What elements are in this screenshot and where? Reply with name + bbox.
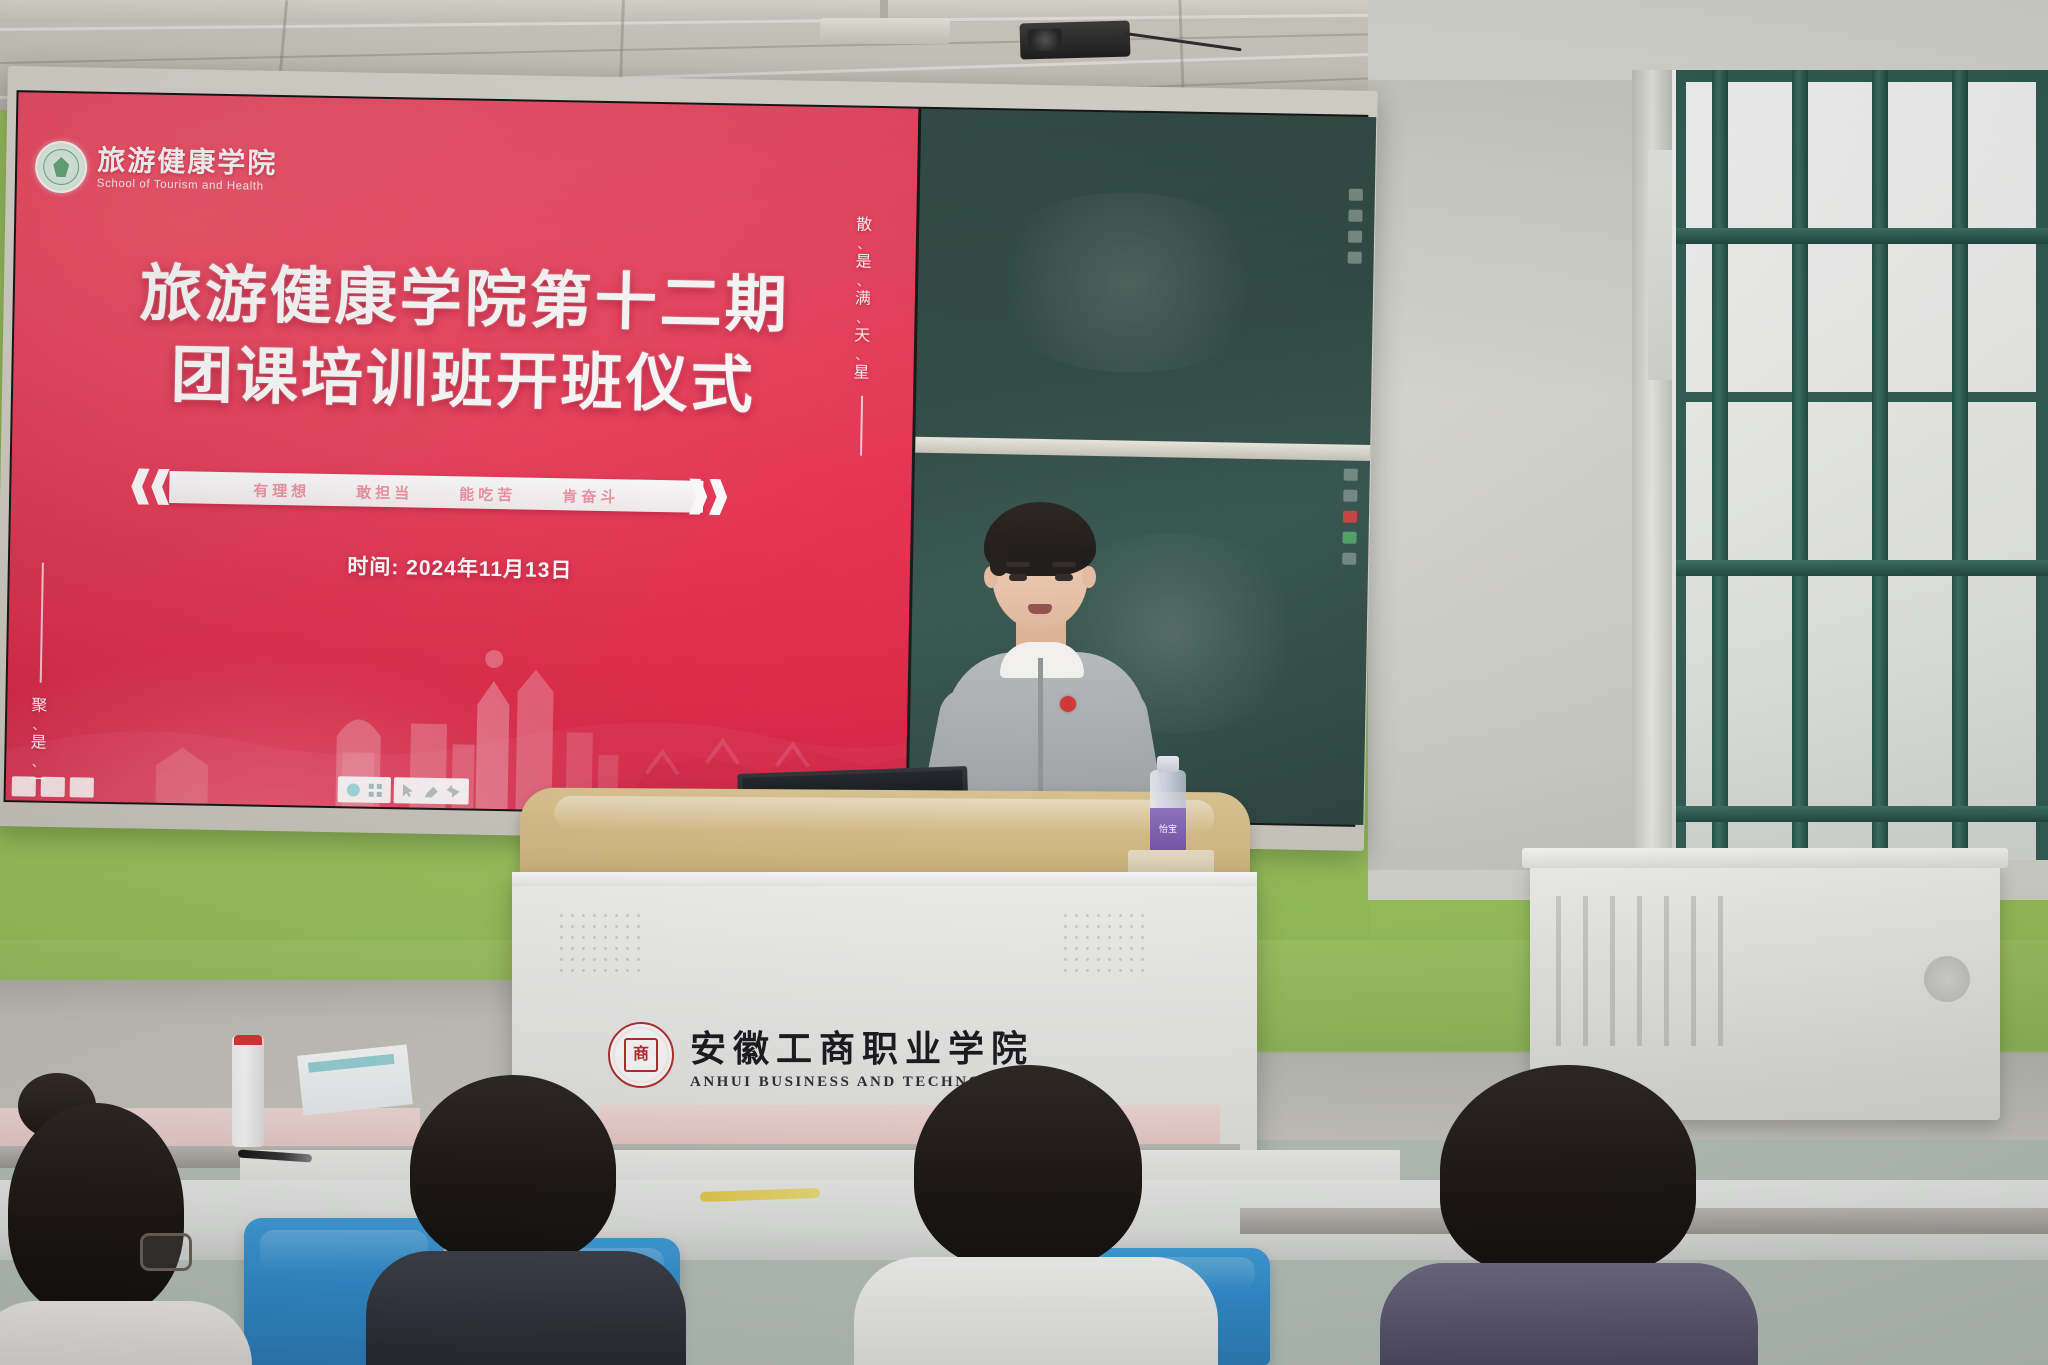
student-hair xyxy=(914,1065,1142,1271)
student-short-hair-center xyxy=(900,1065,1200,1365)
student-curly-hair-right xyxy=(1420,1065,1740,1365)
window-security-bar xyxy=(1676,228,2048,244)
student-hair xyxy=(8,1103,184,1317)
student-hair xyxy=(410,1075,616,1265)
grid-icon[interactable] xyxy=(369,783,382,796)
vtext-char: 是 xyxy=(30,736,47,752)
student-shoulders xyxy=(854,1257,1218,1365)
college-name-cn: 安徽工商职业学院 xyxy=(690,1020,1070,1072)
party-pin-icon xyxy=(1060,696,1076,712)
speaker-eyebrow xyxy=(1052,562,1076,567)
speaker-ear xyxy=(1082,566,1096,588)
control-button[interactable] xyxy=(1349,189,1363,201)
window-frame xyxy=(2036,70,2048,860)
eraser-icon[interactable] xyxy=(425,784,438,797)
chevron-left-icon xyxy=(151,469,170,505)
chevron-left-icon xyxy=(131,468,150,504)
vtext-sep: 、 xyxy=(855,349,869,362)
date-value: 2024年11月13日 xyxy=(406,556,573,582)
podium-perforation xyxy=(556,910,646,976)
cabinet-speaker-grille xyxy=(1924,956,1970,1002)
banner-title-line-1: 旅游健康学院第十二期 xyxy=(14,252,915,349)
cabinet-top-edge xyxy=(1522,848,2008,868)
speaker-eye xyxy=(1009,574,1027,581)
school-logo-lockup: 旅游健康学院 School of Tourism and Health xyxy=(35,141,278,197)
vtext-sep: 、 xyxy=(32,756,46,769)
vent-slot xyxy=(1691,896,1696,1046)
chalkboard-control-panel-top[interactable] xyxy=(1348,189,1363,264)
vtext-char: 散 xyxy=(856,218,873,234)
banner-title-block: 旅游健康学院第十二期 团课培训班开班仪式 xyxy=(13,252,916,430)
banner-title-line-2: 团课培训班开班仪式 xyxy=(13,333,914,430)
classroom-photo-scene: 旅游健康学院 School of Tourism and Health 旅游健康… xyxy=(0,0,2048,1365)
student-shoulders xyxy=(366,1251,686,1365)
control-button[interactable] xyxy=(1348,210,1362,222)
eyeglasses-icon xyxy=(140,1233,192,1271)
control-button[interactable] xyxy=(1348,252,1362,264)
date-label: 时间: xyxy=(347,555,399,579)
control-button[interactable] xyxy=(1344,469,1358,481)
vent-slot xyxy=(1664,896,1669,1046)
control-button[interactable] xyxy=(1348,231,1362,243)
event-banner: 旅游健康学院 School of Tourism and Health 旅游健康… xyxy=(6,92,919,816)
student-shoulders xyxy=(1380,1263,1758,1365)
vertical-rule xyxy=(860,396,863,456)
smartboard-quick-keys[interactable] xyxy=(12,776,94,797)
vent-slot xyxy=(1637,896,1642,1046)
window-frame xyxy=(1676,70,2048,82)
speaker-hair xyxy=(984,502,1096,576)
speaker-eye xyxy=(1055,574,1073,581)
window-security-bar xyxy=(1872,70,1888,860)
quick-key[interactable] xyxy=(70,777,94,797)
undo-icon[interactable] xyxy=(447,785,460,798)
window-frame xyxy=(1676,70,1686,860)
ceiling-speaker xyxy=(1020,20,1131,59)
vtext-char: 满 xyxy=(855,292,872,308)
smartboard-toolbar[interactable] xyxy=(338,776,469,804)
window-security-bar xyxy=(1676,806,2048,822)
chevron-right-icon xyxy=(709,479,728,515)
palette-icon[interactable] xyxy=(347,783,360,796)
podium-desktop-highlight xyxy=(554,796,1214,835)
thermos-cap xyxy=(234,1035,262,1045)
vtext-char: 星 xyxy=(853,366,870,382)
vertical-rule xyxy=(39,563,43,683)
vtext-sep: 、 xyxy=(857,275,871,288)
student-shoulders xyxy=(0,1301,252,1365)
school-name-cn: 旅游健康学院 xyxy=(97,145,278,178)
quick-key[interactable] xyxy=(12,776,36,796)
window-security-bar xyxy=(1952,70,1968,860)
window-panel-left xyxy=(1368,80,1668,870)
student-glasses-bun xyxy=(0,1065,250,1365)
vtext-char: 团 xyxy=(29,810,46,817)
ribbon-word: 能吃苦 xyxy=(459,483,516,505)
chalkboard-control-panel-bottom[interactable] xyxy=(1342,469,1358,565)
speaker-person xyxy=(940,500,1150,830)
window-security-bar xyxy=(1712,70,1728,860)
cursor-icon[interactable] xyxy=(403,784,416,797)
vtext-sep: 、 xyxy=(32,719,46,732)
chalkboard-rail xyxy=(915,437,1375,461)
toolbar-group-left[interactable] xyxy=(338,776,391,803)
vent-slot xyxy=(1556,896,1561,1046)
status-led[interactable] xyxy=(1342,532,1356,544)
window-security-bar xyxy=(1676,560,2048,576)
control-button[interactable] xyxy=(1342,553,1356,565)
toolbar-group-right[interactable] xyxy=(394,777,469,804)
cabinet-vent-slots xyxy=(1556,896,1976,1046)
speaker-mouth xyxy=(1028,604,1052,614)
smartboard-display-area: 旅游健康学院 School of Tourism and Health 旅游健康… xyxy=(4,90,1369,827)
ribbon-word: 肯奋斗 xyxy=(562,485,619,507)
school-name-en: School of Tourism and Health xyxy=(97,178,277,193)
paper-header-band xyxy=(308,1054,395,1073)
speaker-eyebrow xyxy=(1006,562,1030,567)
seal-emblem xyxy=(43,149,80,186)
vtext-sep: 、 xyxy=(857,238,871,251)
power-button[interactable] xyxy=(1343,511,1357,523)
paper-sheet xyxy=(297,1044,413,1115)
vtext-char: 聚 xyxy=(31,699,48,715)
vent-slot xyxy=(1583,896,1588,1046)
vtext-sep: 、 xyxy=(856,312,870,325)
window-frame xyxy=(1676,392,2048,402)
school-seal-icon xyxy=(35,141,88,194)
podium-perforation xyxy=(1060,910,1150,976)
vtext-char: 是 xyxy=(855,255,872,271)
projector-mount xyxy=(820,18,950,44)
bottle-cap xyxy=(1157,756,1179,772)
ribbon-word: 有理想 xyxy=(253,479,310,501)
control-button[interactable] xyxy=(1343,490,1357,502)
ribbon-word: 敢担当 xyxy=(356,481,413,503)
window-security-bar xyxy=(1792,70,1808,860)
chalk-smudge xyxy=(977,190,1280,375)
quick-key[interactable] xyxy=(41,777,65,797)
student-short-hair-left xyxy=(400,1075,670,1365)
vent-slot xyxy=(1610,896,1615,1046)
student-hair xyxy=(1440,1065,1696,1277)
seal-character: 商 xyxy=(624,1038,658,1072)
vtext-char: 天 xyxy=(854,329,871,345)
bottle-label: 怡宝 xyxy=(1150,808,1186,852)
window-glass xyxy=(1672,70,2048,860)
school-name-block: 旅游健康学院 School of Tourism and Health xyxy=(97,145,278,193)
smartboard-frame: 旅游健康学院 School of Tourism and Health 旅游健康… xyxy=(0,66,1378,851)
vent-slot xyxy=(1718,896,1723,1046)
